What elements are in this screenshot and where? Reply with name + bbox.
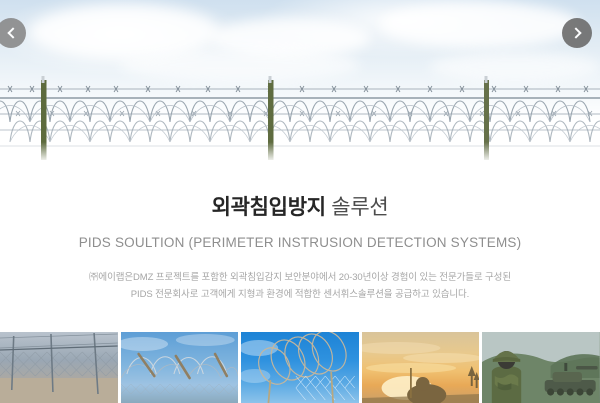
page-title-light: 솔루션 (331, 196, 388, 219)
page-root: 외곽침입방지 솔루션 PIDS SOULTION (PERIMETER INST… (0, 0, 600, 403)
hero-bottom-fade (0, 142, 600, 168)
chevron-right-icon (570, 27, 581, 38)
page-title: 외곽침입방지 솔루션 (0, 194, 600, 222)
thumbnail-razor-coil-blue-sky[interactable] (241, 332, 359, 403)
page-title-strong: 외곽침입방지 (212, 196, 326, 219)
intro-section: 외곽침입방지 솔루션 PIDS SOULTION (PERIMETER INST… (0, 168, 600, 332)
chevron-left-icon (7, 27, 18, 38)
thumbnail-razor-wire-fence-sky[interactable] (121, 332, 239, 403)
carousel-next-button[interactable] (562, 18, 592, 48)
intro-description-line-1: ㈜에이랩은DMZ 프로젝트를 포함한 외곽침입감지 보안분야에서 20-30년이… (0, 269, 600, 286)
thumbnail-chain-link-fence[interactable] (0, 332, 118, 403)
thumbnail-soldier-with-tank[interactable] (482, 332, 600, 403)
hero-carousel (0, 0, 600, 168)
cloud-decoration (380, 2, 580, 48)
thumbnail-strip (0, 332, 600, 403)
page-subtitle: PIDS SOULTION (PERIMETER INSTRUSION DETE… (0, 234, 600, 252)
intro-description: ㈜에이랩은DMZ 프로젝트를 포함한 외곽침입감지 보안분야에서 20-30년이… (0, 269, 600, 303)
intro-description-line-2: PIDS 전문회사로 고객에게 지형과 환경에 적합한 센서휘스솔루션을 공급하… (0, 286, 600, 303)
thumbnail-sunset-guard-silhouette[interactable] (362, 332, 480, 403)
